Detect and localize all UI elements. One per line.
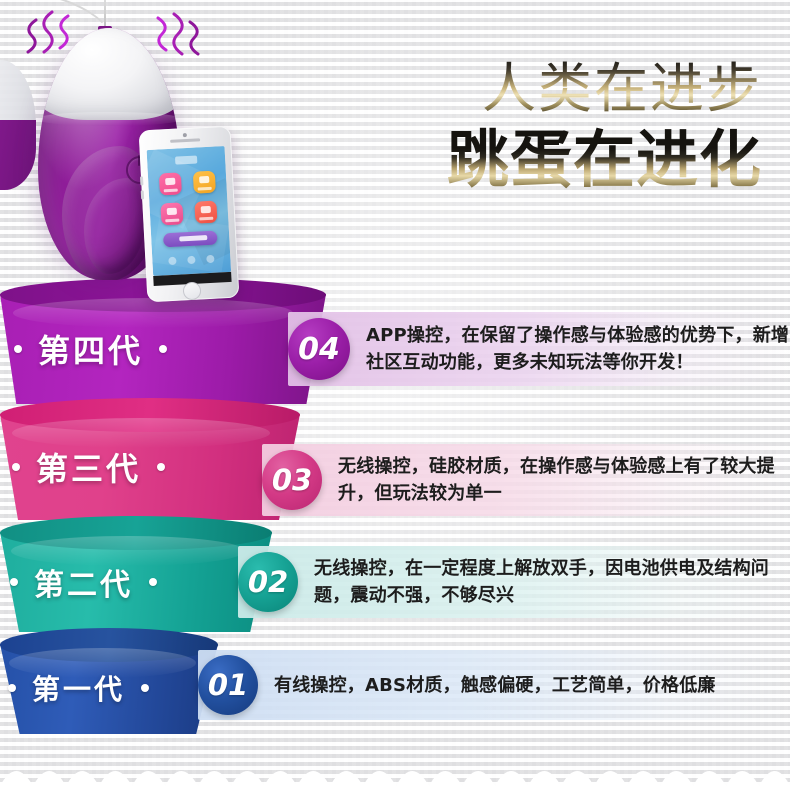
- app-icon-rose[interactable]: [160, 202, 183, 225]
- poster-canvas: 人类在进步 跳蛋在进化: [0, 0, 790, 802]
- detail-badge-01: 01: [198, 655, 258, 715]
- funnel-tier-gen2[interactable]: 第二代: [0, 516, 272, 632]
- funnel-tier-gen1[interactable]: 第一代: [0, 628, 218, 732]
- tier-rim: [0, 516, 272, 550]
- label-dot-left: [14, 345, 22, 353]
- tier-label-text: 第一代: [32, 668, 125, 708]
- funnel-tier-gen4-label: 第四代: [14, 326, 167, 372]
- detail-text-04: APP操控，在保留了操作感与体验感的优势下，新增社区互动功能，更多未知玩法等你开…: [366, 322, 790, 376]
- phone-screen: [147, 146, 231, 276]
- label-dot-right: [159, 345, 167, 353]
- funnel-tier-gen2-label: 第二代: [10, 560, 157, 604]
- funnel-tier-gen1-label: 第一代: [8, 668, 149, 708]
- label-dot-right: [157, 463, 165, 471]
- headline-line-2: 跳蛋在进化: [447, 124, 762, 196]
- detail-badge-02: 02: [238, 552, 298, 612]
- vibration-waves-left-icon: [22, 10, 78, 70]
- scalloped-bottom-edge: [0, 756, 790, 802]
- tier-label-text: 第二代: [34, 560, 133, 604]
- app-icon-grid: [159, 171, 218, 226]
- detail-text-01: 有线操控，ABS材质，触感偏硬，工艺简单，价格低廉: [274, 672, 716, 699]
- detail-row-02[interactable]: 02 无线操控，在一定程度上解放双手，因电池供电及结构问题，震动不强，不够尽兴: [238, 546, 790, 618]
- smartphone: [139, 126, 240, 303]
- headline-line-1: 人类在进步: [447, 58, 762, 120]
- label-dot-left: [10, 578, 18, 586]
- detail-row-01[interactable]: 01 有线操控，ABS材质，触感偏硬，工艺简单，价格低廉: [198, 650, 790, 720]
- dock-dot-2: [187, 256, 195, 264]
- vibration-waves-right-icon: [148, 12, 204, 72]
- dock-dot-3: [206, 255, 214, 263]
- app-icon-pink[interactable]: [159, 172, 182, 195]
- detail-row-04[interactable]: 04 APP操控，在保留了操作感与体验感的优势下，新增社区互动功能，更多未知玩法…: [288, 312, 790, 386]
- dock-dot-1: [168, 257, 176, 265]
- detail-text-03: 无线操控，硅胶材质，在操作感与体验感上有了较大提升，但玩法较为单一: [338, 453, 790, 507]
- app-icon-yellow[interactable]: [193, 171, 216, 194]
- label-dot-left: [12, 463, 20, 471]
- detail-badge-04: 04: [288, 318, 350, 380]
- tier-label-text: 第三代: [36, 444, 141, 490]
- tier-rim: [0, 398, 300, 432]
- headline-block: 人类在进步 跳蛋在进化: [447, 58, 762, 196]
- label-dot-left: [8, 684, 16, 692]
- phone-volume-up-button: [140, 176, 143, 185]
- detail-badge-03: 03: [262, 450, 322, 510]
- funnel-tier-gen3[interactable]: 第三代: [0, 398, 300, 520]
- funnel-tier-gen3-label: 第三代: [12, 444, 165, 490]
- app-logo: [175, 156, 197, 165]
- app-connect-button[interactable]: [163, 231, 218, 248]
- detail-row-03[interactable]: 03 无线操控，硅胶材质，在操作感与体验感上有了较大提升，但玩法较为单一: [262, 444, 790, 516]
- egg-seam-ring: [38, 112, 180, 126]
- tier-label-text: 第四代: [38, 326, 143, 372]
- app-icon-coral[interactable]: [194, 201, 217, 224]
- label-dot-right: [141, 684, 149, 692]
- detail-text-02: 无线操控，在一定程度上解放双手，因电池供电及结构问题，震动不强，不够尽兴: [314, 555, 790, 609]
- label-dot-right: [149, 578, 157, 586]
- phone-volume-down-button: [141, 190, 144, 199]
- product-photo: [0, 0, 300, 300]
- tier-rim: [0, 628, 218, 662]
- secondary-egg-bottom: [0, 120, 36, 190]
